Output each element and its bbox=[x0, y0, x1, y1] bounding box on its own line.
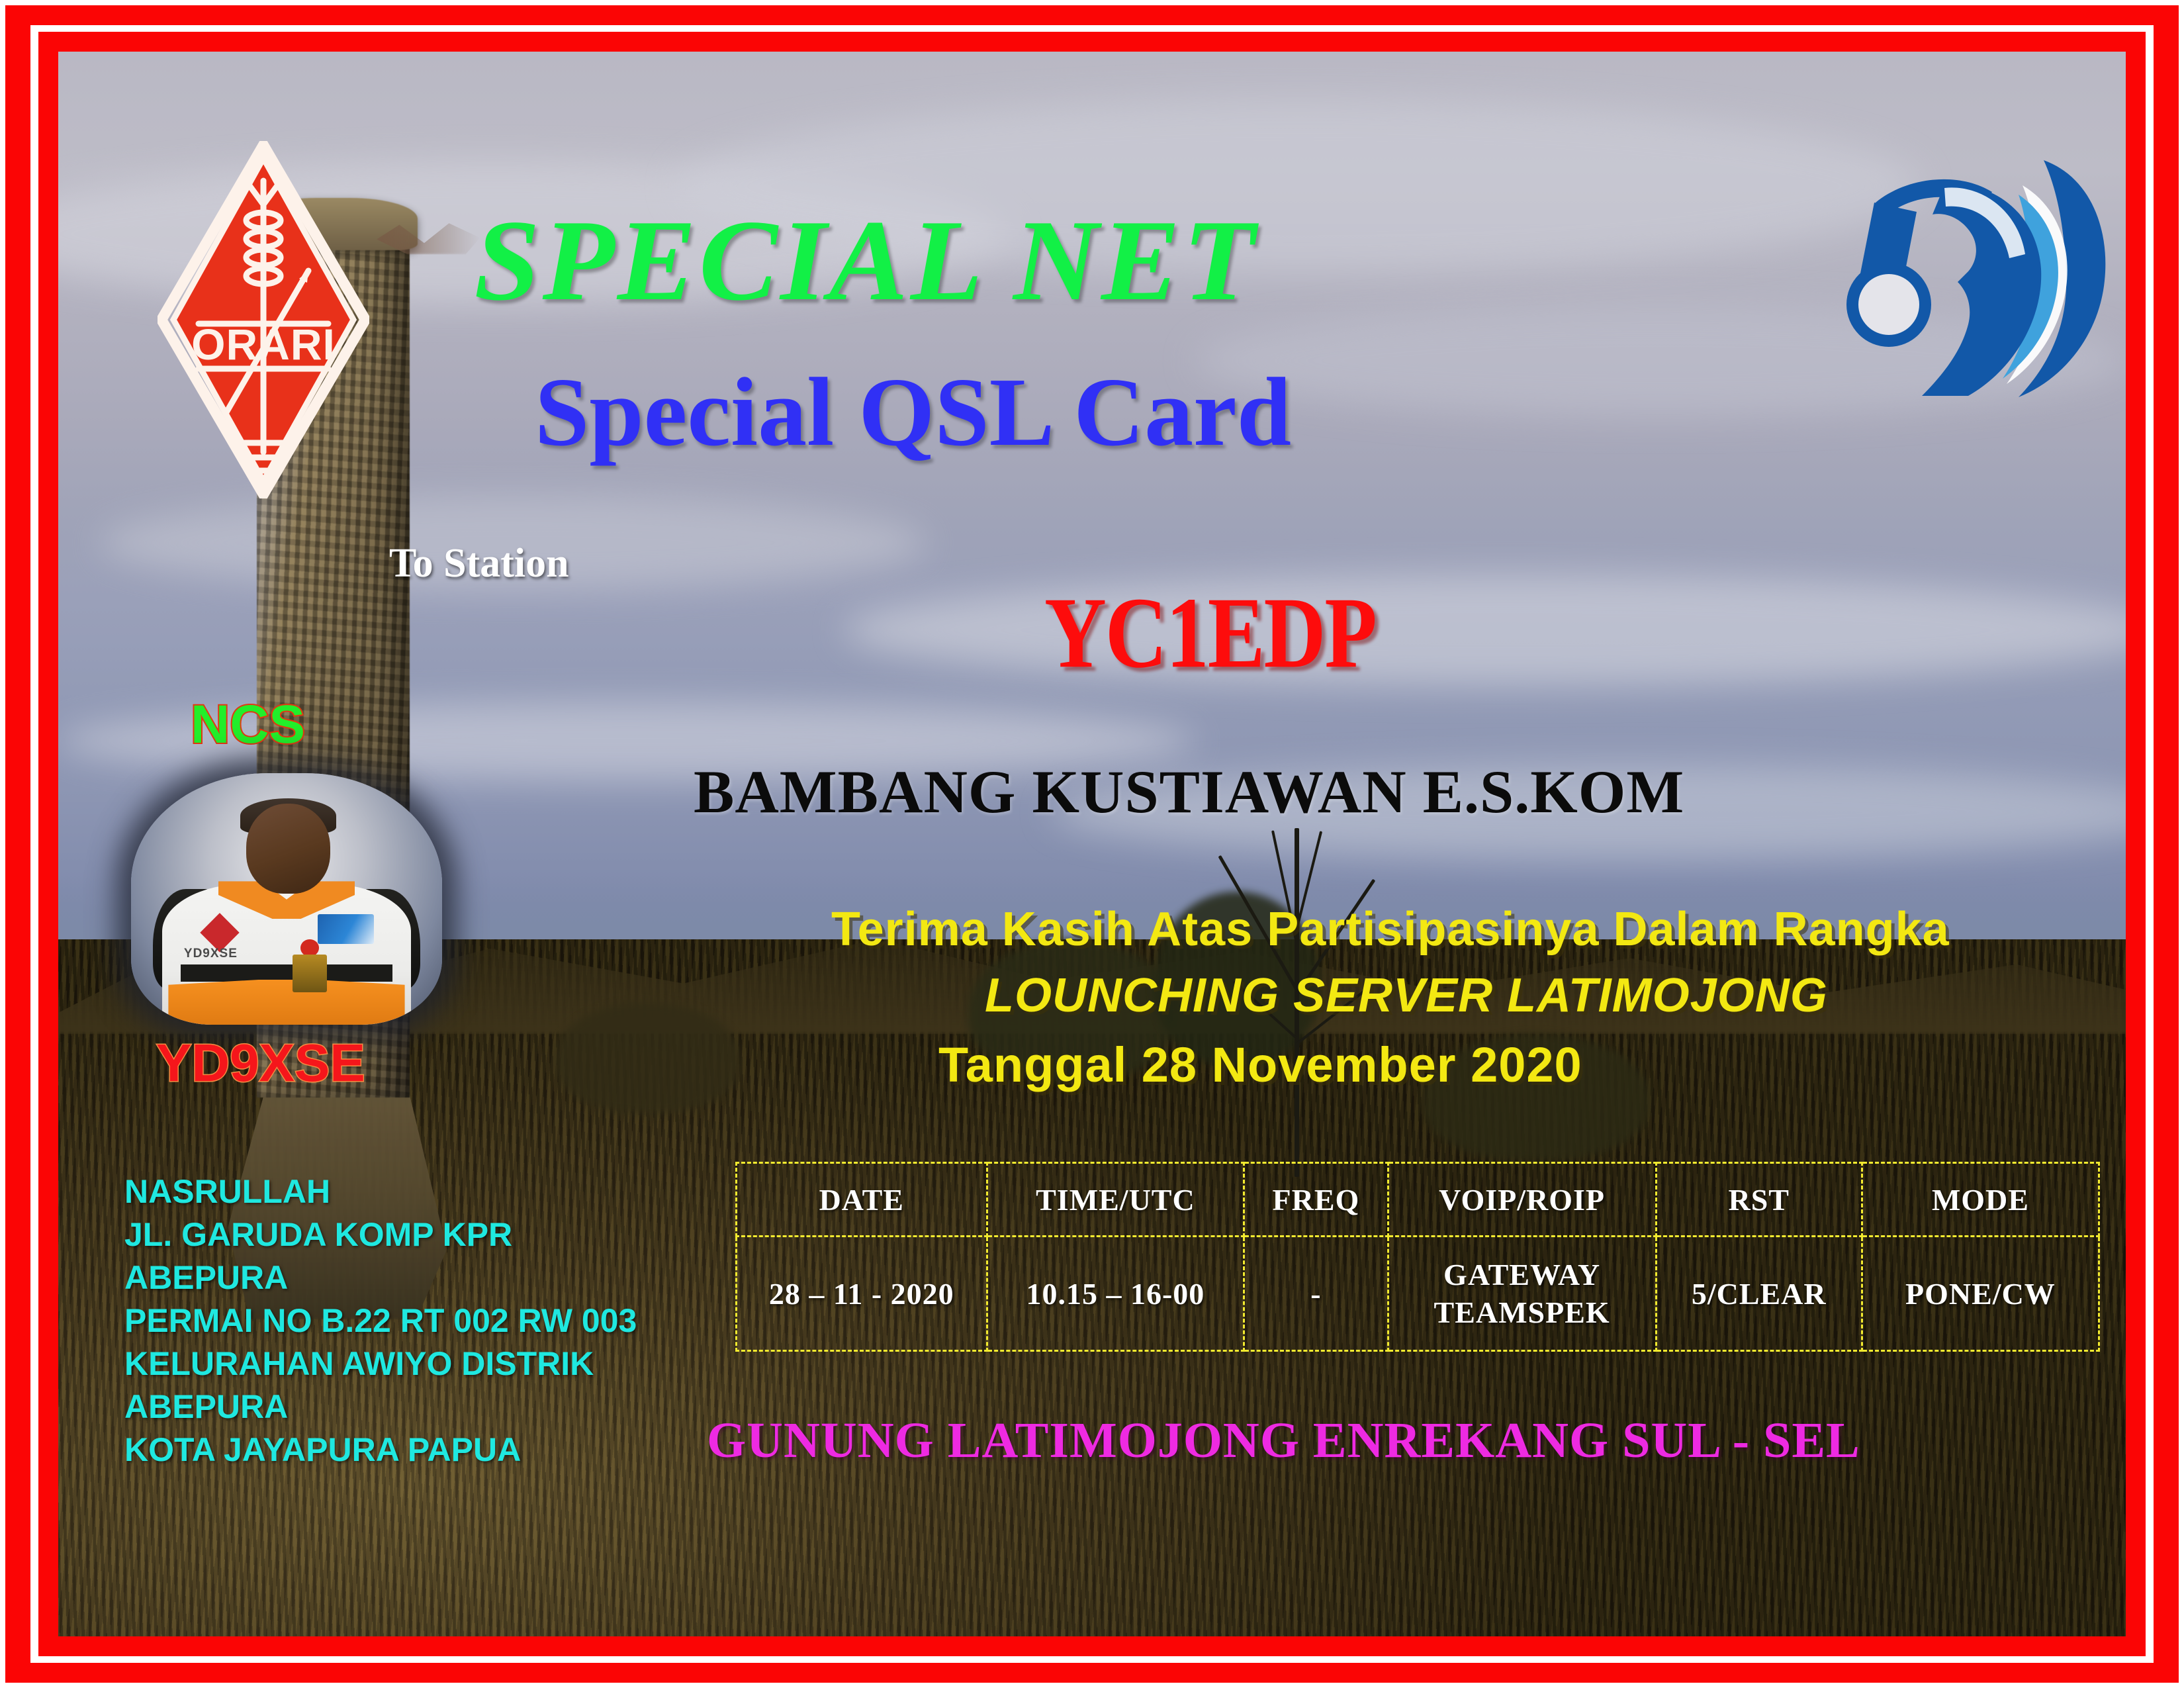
address-line: ABEPURA bbox=[124, 1256, 637, 1299]
cell-rst: 5/CLEAR bbox=[1656, 1237, 1862, 1351]
address-line: JL. GARUDA KOMP KPR bbox=[124, 1213, 637, 1256]
background-photo: ORARI SPECIAL NET Special QSL Card To S bbox=[58, 52, 2126, 1636]
cloud-band bbox=[844, 575, 2126, 686]
page-subtitle: Special QSL Card bbox=[535, 356, 1291, 469]
event-line: LOUNCHING SERVER LATIMOJONG bbox=[985, 968, 1828, 1023]
table-row: 28 – 11 - 2020 10.15 – 16-00 - GATEWAY T… bbox=[737, 1237, 2099, 1351]
black-belt-stripe bbox=[181, 964, 392, 982]
slogan-text: "AMATIR RADIO ADALAH PROGRESIVE" bbox=[136, 1630, 1098, 1636]
address-line: ABEPURA bbox=[124, 1385, 637, 1429]
headset-face-radio-logo bbox=[1845, 151, 2110, 402]
location-line: GUNUNG LATIMOJONG ENREKANG SUL - SEL bbox=[707, 1412, 1860, 1470]
column-header-mode: MODE bbox=[1862, 1163, 2099, 1237]
ncs-label: NCS bbox=[191, 694, 305, 756]
ncs-callsign: YD9XSE bbox=[156, 1033, 365, 1094]
address-line: PERMAI NO B.22 RT 002 RW 003 bbox=[124, 1299, 637, 1342]
column-header-date: DATE bbox=[737, 1163, 987, 1237]
orari-logo: ORARI bbox=[158, 141, 369, 498]
station-address-block: NASRULLAH JL. GARUDA KOMP KPR ABEPURA PE… bbox=[124, 1170, 637, 1472]
orange-sash bbox=[168, 980, 404, 1025]
cell-mode: PONE/CW bbox=[1862, 1237, 2099, 1351]
operator-name: BAMBANG KUSTIAWAN E.S.KOM bbox=[694, 757, 1684, 827]
address-line: NASRULLAH bbox=[124, 1170, 637, 1213]
shirt-callsign-text: YD9XSE bbox=[184, 947, 238, 961]
cell-time: 10.15 – 16-00 bbox=[987, 1237, 1244, 1351]
voip-roip-line-2: TEAMSPEK bbox=[1389, 1293, 1655, 1332]
voip-roip-line-1: GATEWAY bbox=[1389, 1256, 1655, 1294]
to-station-label: To Station bbox=[389, 540, 569, 587]
cell-voip-roip: GATEWAY TEAMSPEK bbox=[1388, 1237, 1656, 1351]
thanks-line: Terima Kasih Atas Partisipasinya Dalam R… bbox=[831, 902, 1950, 957]
orari-logo-text: ORARI bbox=[191, 320, 336, 369]
qso-data-table: DATE TIME/UTC FREQ VOIP/ROIP RST MODE 28… bbox=[735, 1162, 2100, 1352]
cell-freq: - bbox=[1244, 1237, 1388, 1351]
ncs-operator-photo: YD9XSE bbox=[131, 773, 442, 1025]
address-line: KOTA JAYAPURA PAPUA bbox=[124, 1429, 637, 1472]
id-card bbox=[293, 955, 327, 992]
page-title: SPECIAL NET bbox=[474, 194, 1257, 327]
bush bbox=[555, 1002, 741, 1113]
column-header-freq: FREQ bbox=[1244, 1163, 1388, 1237]
table-header-row: DATE TIME/UTC FREQ VOIP/ROIP RST MODE bbox=[737, 1163, 2099, 1237]
column-header-time: TIME/UTC bbox=[987, 1163, 1244, 1237]
qsl-card: ORARI SPECIAL NET Special QSL Card To S bbox=[0, 0, 2184, 1688]
address-line: KELURAHAN AWIYO DISTRIK bbox=[124, 1342, 637, 1385]
web-address-text: Address : amatir.latimojong.com bbox=[1309, 1628, 2013, 1636]
shirt-badge-blue bbox=[318, 914, 374, 945]
column-header-rst: RST bbox=[1656, 1163, 1862, 1237]
column-header-voip-roip: VOIP/ROIP bbox=[1388, 1163, 1656, 1237]
event-date-line: Tanggal 28 November 2020 bbox=[938, 1037, 1582, 1093]
cell-date: 28 – 11 - 2020 bbox=[737, 1237, 987, 1351]
recipient-callsign: YC1EDP bbox=[1044, 575, 1376, 692]
face bbox=[246, 804, 330, 894]
